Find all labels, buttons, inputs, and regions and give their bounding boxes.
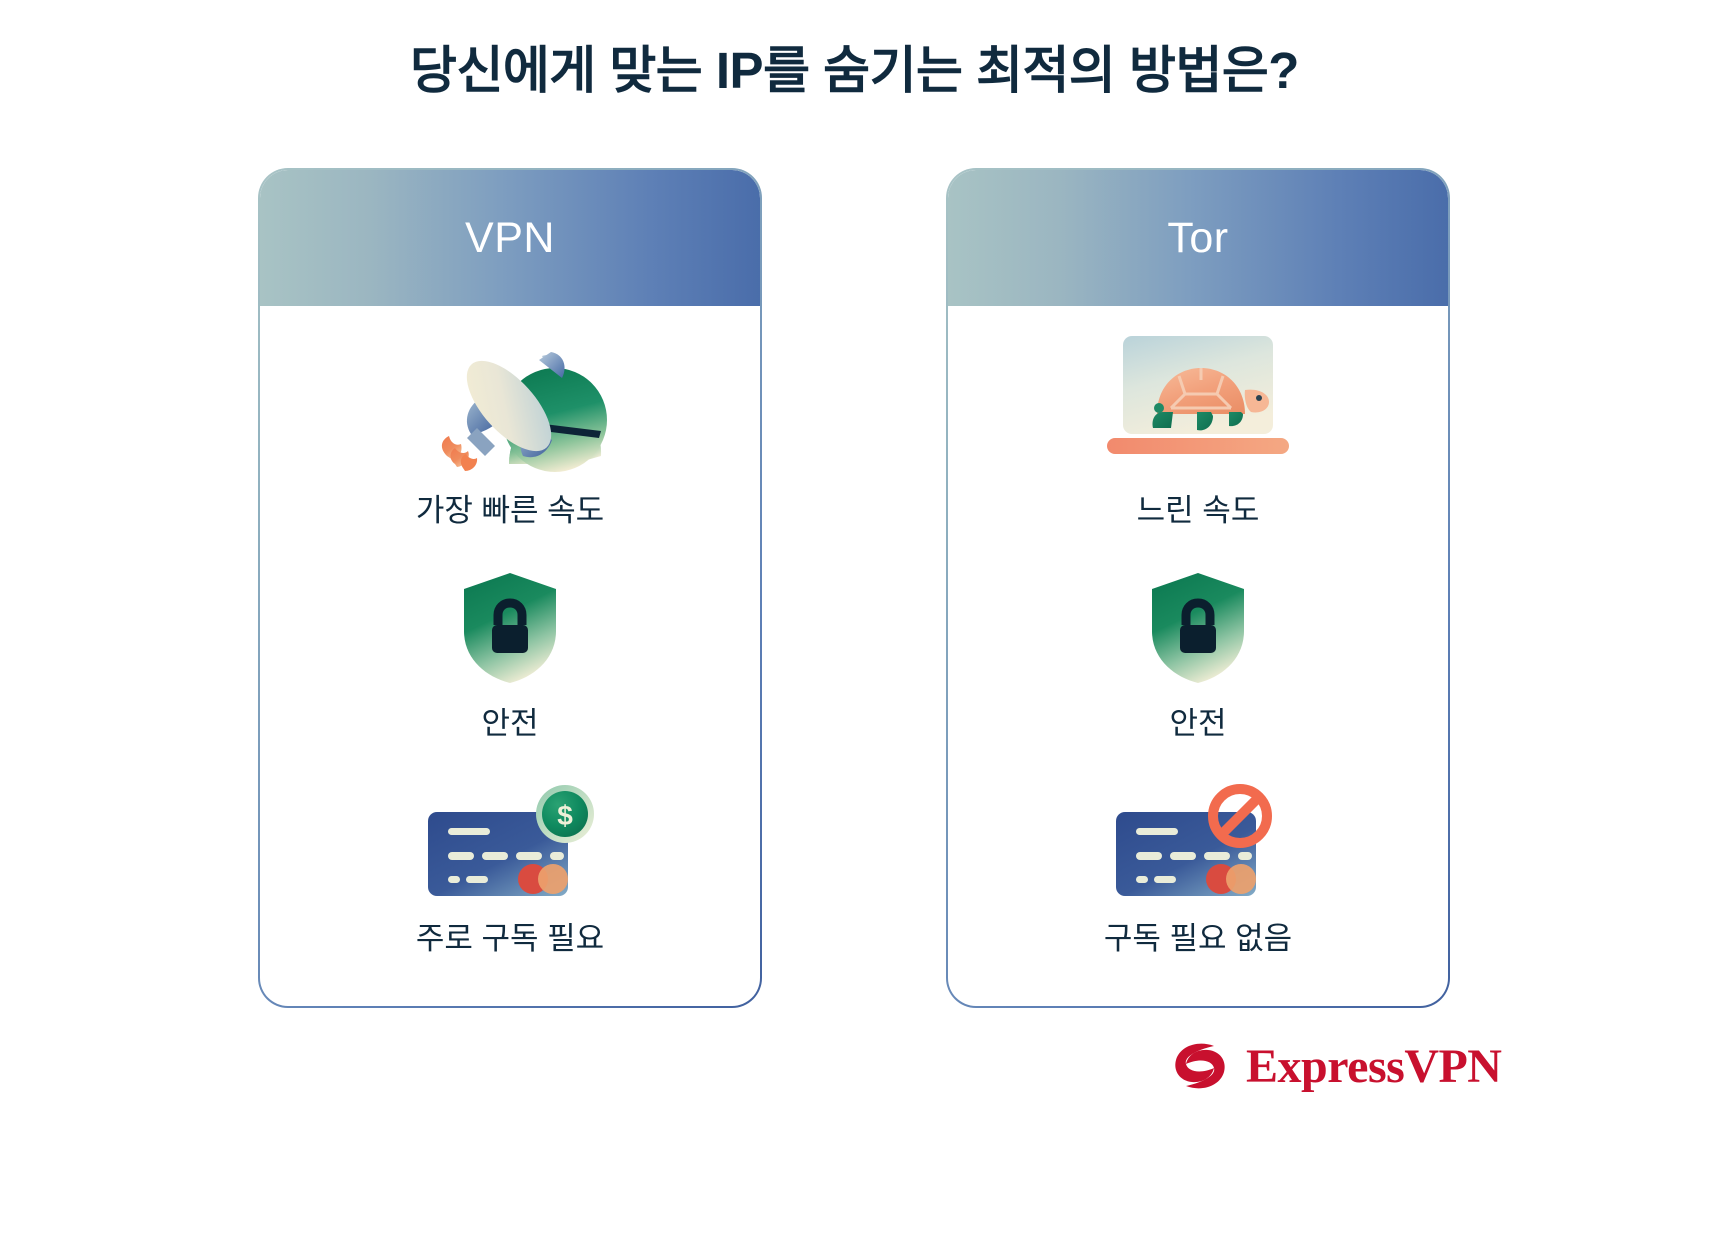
card-vpn-header: VPN (260, 170, 760, 306)
feature-tor-speed-label: 느린 속도 (1137, 492, 1260, 529)
feature-vpn-payment-label: 주로 구독 필요 (416, 920, 604, 957)
rocket-speedometer-icon (405, 328, 615, 478)
feature-tor-speed: 느린 속도 (948, 328, 1448, 529)
infographic-page: 당신에게 맞는 IP를 숨기는 최적의 방법은? VPN (0, 0, 1709, 1240)
card-tor: Tor (946, 168, 1450, 1008)
card-tor-header: Tor (948, 170, 1448, 306)
laptop-turtle-icon (1093, 328, 1303, 478)
feature-vpn-secure: 안전 (260, 569, 760, 742)
feature-vpn-speed-label: 가장 빠른 속도 (416, 492, 604, 529)
feature-vpn-secure-label: 안전 (481, 705, 538, 742)
card-vpn-title: VPN (465, 214, 555, 263)
credit-card-dollar-icon: $ (420, 784, 600, 902)
feature-tor-payment: 구독 필요 없음 (948, 784, 1448, 957)
page-title: 당신에게 맞는 IP를 숨기는 최적의 방법은? (0, 38, 1709, 104)
card-vpn-body: 가장 빠른 속도 (260, 306, 760, 1006)
feature-tor-secure: 안전 (948, 569, 1448, 742)
shield-lock-icon (1144, 569, 1252, 687)
expressvpn-logo: ExpressVPN (1168, 1036, 1501, 1098)
card-tor-body: 느린 속도 (948, 306, 1448, 1006)
comparison-cards: VPN (258, 168, 1450, 1008)
feature-vpn-speed: 가장 빠른 속도 (260, 328, 760, 529)
feature-tor-payment-label: 구독 필요 없음 (1104, 920, 1292, 957)
svg-text:$: $ (557, 800, 573, 831)
feature-vpn-payment: $ 주로 구독 필요 (260, 784, 760, 957)
credit-card-prohibited-icon (1108, 784, 1288, 902)
expressvpn-logo-mark (1168, 1036, 1232, 1098)
card-tor-title: Tor (1167, 214, 1228, 263)
shield-lock-icon (456, 569, 564, 687)
card-vpn: VPN (258, 168, 762, 1008)
feature-tor-secure-label: 안전 (1169, 705, 1226, 742)
expressvpn-logo-text: ExpressVPN (1246, 1043, 1501, 1091)
